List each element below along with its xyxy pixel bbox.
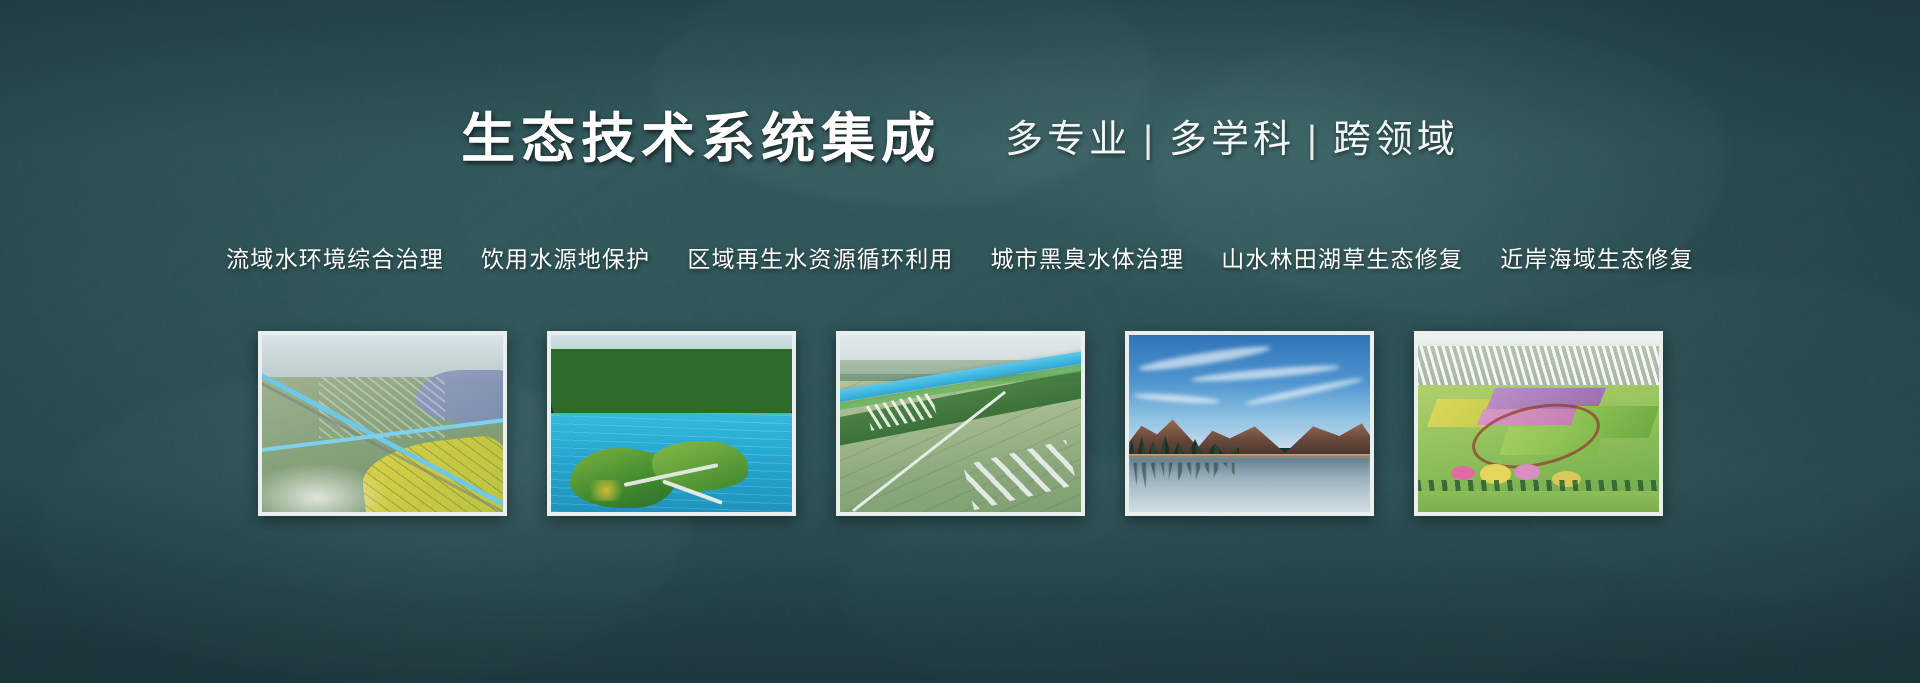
keyword-item-1[interactable]: 流域水环境综合治理	[226, 240, 444, 274]
keyword-item-6[interactable]: 近岸海域生态修复	[1500, 240, 1694, 274]
thumbnail-image-2	[551, 335, 792, 512]
banner-content: 生态技术系统集成 多专业|多学科|跨领域 流域水环境综合治理 饮用水源地保护 区…	[0, 0, 1920, 683]
thumbnail-image-3	[840, 335, 1081, 512]
subtitle-separator-1: |	[1143, 119, 1157, 161]
subtitle: 多专业|多学科|跨领域	[1005, 119, 1459, 166]
keyword-item-4[interactable]: 城市黑臭水体治理	[991, 240, 1185, 274]
thumbnail-coastal-watershed-masterplan[interactable]	[258, 331, 507, 516]
subtitle-part-3: 跨领域	[1333, 119, 1459, 161]
subtitle-part-2: 多学科	[1169, 119, 1295, 161]
thumbnail-image-5	[1418, 335, 1659, 512]
thumbnail-flower-farmland-aerial[interactable]	[1414, 331, 1663, 516]
thumbnail-turquoise-lake-islands[interactable]	[547, 331, 796, 516]
subtitle-part-1: 多专业	[1005, 119, 1131, 161]
keyword-item-2[interactable]: 饮用水源地保护	[481, 240, 650, 274]
page-title: 生态技术系统集成	[461, 112, 941, 166]
headline-row: 生态技术系统集成 多专业|多学科|跨领域	[0, 112, 1920, 166]
thumbnail-gallery	[0, 331, 1920, 516]
hero-banner: 生态技术系统集成 多专业|多学科|跨领域 流域水环境综合治理 饮用水源地保护 区…	[0, 0, 1920, 683]
keyword-item-3[interactable]: 区域再生水资源循环利用	[687, 240, 953, 274]
keyword-item-5[interactable]: 山水林田湖草生态修复	[1221, 240, 1463, 274]
thumbnail-river-valley-fields[interactable]	[836, 331, 1085, 516]
thumbnail-image-4	[1129, 335, 1370, 512]
thumbnail-mountain-lake-reflection[interactable]	[1125, 331, 1374, 516]
subtitle-separator-2: |	[1307, 119, 1321, 161]
thumbnail-image-1	[262, 335, 503, 512]
keyword-row: 流域水环境综合治理 饮用水源地保护 区域再生水资源循环利用 城市黑臭水体治理 山…	[0, 240, 1920, 274]
